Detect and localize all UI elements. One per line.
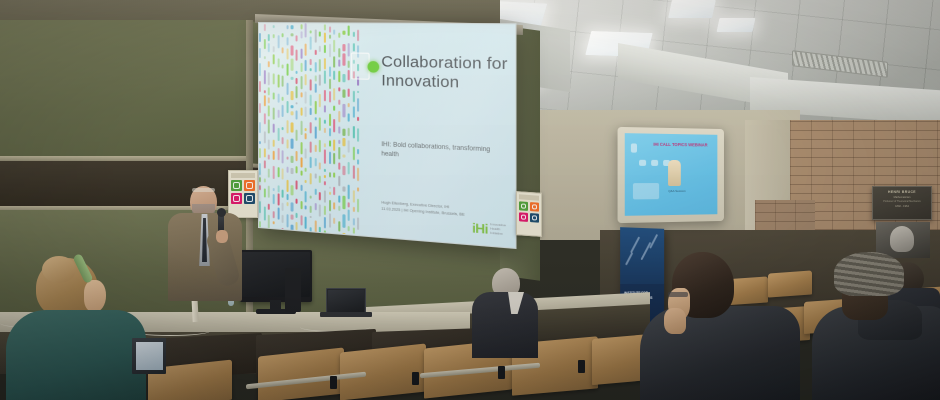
dna-bar [268,34,270,41]
dna-bar [263,132,265,144]
dna-bar [300,76,302,89]
dna-bar [324,150,326,164]
dna-bar [314,173,316,178]
dna-bar [357,218,359,231]
dna-bar [343,74,345,82]
dna-bar [348,202,350,207]
dna-bar [353,31,355,36]
dna-bar [273,140,275,147]
dna-bar [310,30,312,33]
dna-bar [286,202,288,207]
dna-bar [319,192,321,200]
dna-bar [291,105,293,108]
dna-bar [357,168,359,182]
dna-bar [296,50,298,61]
dna-bar [296,151,298,161]
dna-bar [291,33,293,36]
dna-bar [343,196,345,209]
secondary-screen-icon [639,160,646,166]
dna-bar [263,207,265,221]
sdg-tile [530,213,539,223]
dna-bar [296,212,298,218]
dna-bar [333,218,335,224]
dna-bar [305,60,307,71]
dna-bar [282,137,284,145]
audience-laptop-screen [136,342,163,370]
dna-bar [277,194,279,205]
dna-bar [291,202,293,211]
dna-bar [353,106,355,117]
dna-bar [273,54,275,64]
dna-bar [310,80,312,91]
dna-bar [259,48,261,57]
dna-bar [348,113,350,122]
dna-bar [338,100,340,105]
dna-bar [319,74,321,85]
dna-bar [305,74,307,85]
dna-bar [259,177,261,182]
dna-bar [329,151,331,164]
dna-bar [286,167,288,172]
dna-bar [268,43,270,52]
dna-bar [329,66,331,77]
dna-bar [273,151,275,160]
secondary-screen-icon [631,143,637,152]
dna-bar [277,128,279,142]
memorial-plaque: HENRI BRUCE Mathematician Professor of T… [872,186,932,220]
dna-bar [268,186,270,197]
dna-bar [305,43,307,55]
dna-bar [333,57,335,68]
dna-bar [314,30,316,43]
dna-bar [310,95,312,106]
dna-bar [310,216,312,219]
dna-bar [329,114,331,127]
dna-bar [263,178,265,182]
lecturer-laptop-lid [326,288,366,314]
dna-bar [282,203,284,211]
banner-streak [649,234,658,249]
banner-image [620,227,664,284]
dna-bar [353,43,355,52]
presenter [168,186,248,314]
dna-bar [348,185,350,199]
dna-bar [305,180,307,183]
dna-bar [273,74,275,85]
dna-bar [286,157,288,160]
dna-bar [338,196,340,203]
dna-bar [319,46,321,53]
dna-bar [259,33,261,43]
dna-bar [268,204,270,210]
slide-accent-dot [367,61,379,73]
dna-bar [338,139,340,143]
dna-bar [273,108,275,120]
dna-bar [324,206,326,216]
dna-bar [277,186,279,192]
dna-bar [338,206,340,211]
dna-bar [353,91,355,103]
secondary-screen-figure [668,160,681,186]
dna-bar [319,32,321,37]
dna-bar [310,156,312,168]
dna-bar [338,87,340,92]
seat-bracket [578,360,585,373]
desktop-monitor [240,250,312,302]
dna-bar [296,102,298,105]
dna-bar [263,160,265,169]
dna-bar [291,26,293,30]
dna-bar [273,46,275,52]
dna-bar [286,25,288,30]
dna-bar [319,117,321,131]
dna-bar [314,127,316,139]
dna-bar [286,214,288,227]
dna-bar [263,70,265,84]
dna-bar [263,25,265,32]
dna-bar [324,128,326,133]
dna-bar [310,195,312,198]
audience-glasses [668,292,688,297]
dna-bar [305,133,307,139]
dna-bar [291,168,293,174]
dna-bar [296,86,298,98]
dna-bar [305,217,307,229]
dna-bar [277,148,279,161]
dna-bar [348,162,350,175]
plaque-line2: Mathematician [877,196,927,199]
dna-bar [300,157,302,167]
dna-bar [305,128,307,132]
dna-bar [319,94,321,107]
desk-speaker [285,268,301,312]
dna-bar [353,126,355,138]
dna-bar [296,111,298,120]
dna-bar [286,63,288,75]
dna-bar [353,190,355,203]
dna-bar [277,75,279,88]
seat-bracket [498,366,505,379]
dna-bar [300,92,302,98]
dna-bar [314,158,316,166]
dna-bar [343,104,345,117]
dna-bar [324,120,326,124]
dna-bar [263,90,265,94]
dna-bar [329,79,331,89]
dna-bar [343,138,345,146]
dna-bar [277,35,279,48]
dna-bar [300,63,302,73]
dna-bar [314,220,316,232]
dna-bar [305,24,307,38]
dna-bar [286,180,288,192]
seat-bracket [412,372,419,385]
dna-bar [314,62,316,73]
sdg-tile-grid [519,201,539,222]
secondary-screen-icon [651,160,658,166]
dna-bar [353,228,355,234]
dna-bar [305,167,307,172]
dna-bar [353,165,355,179]
ihi-logo: iHi Innovative Health Initiative [472,221,506,239]
audience-torso [6,310,146,400]
dna-bar [329,128,331,137]
dna-bar [268,154,270,159]
sdg-tile [530,202,539,212]
dna-bar [291,156,293,162]
dna-bar [343,233,345,235]
dna-bar [282,33,284,37]
sdg-tile [519,201,528,211]
dna-bar [259,103,261,114]
dna-bar [357,188,359,192]
dna-bar [314,101,316,114]
dna-bar [329,44,331,57]
dna-bar [263,188,265,197]
dna-bar [291,46,293,56]
dna-bar [291,59,293,71]
dna-bar [300,142,302,155]
dna-bar [305,206,307,210]
dna-bar [333,30,335,35]
banner-streak [625,252,633,265]
dna-bar [324,217,326,228]
projection-screen-main: Collaboration for Innovation IHI: Bold c… [258,22,516,249]
dna-bar [319,204,321,217]
dna-bar [310,108,312,115]
dna-bar [268,139,270,150]
dna-bar [338,48,340,57]
dna-bar [357,30,359,41]
dna-bar [296,166,298,173]
dna-bar [333,70,335,80]
dna-bar [348,89,350,97]
dna-bar [282,150,284,164]
knit-beanie [834,252,904,296]
dna-bar [286,49,288,59]
dna-bar [348,25,350,36]
dna-bar [291,90,293,100]
dna-bar [286,101,288,113]
dna-bar [296,130,298,141]
dna-bar [263,56,265,59]
dna-bar [296,222,298,230]
dna-bar [273,123,275,133]
ihi-logo-subtext: Innovative Health Initiative [490,223,506,237]
dna-bar [273,166,275,179]
presentation-slide: Collaboration for Innovation IHI: Bold c… [259,23,515,248]
dna-bar [338,221,340,231]
dna-bar [300,24,302,29]
sdg-icon [521,203,526,209]
dna-bar [296,199,298,204]
dna-bar [314,203,316,210]
dna-bar [319,140,321,153]
dna-bar [338,127,340,134]
dna-bar [343,54,345,66]
sdg-icon [532,215,537,221]
ceiling-light-panel [668,0,716,18]
dna-bar [310,142,312,153]
dna-bar [259,185,261,190]
dna-bar [273,34,275,38]
dna-bar [310,68,312,71]
dna-bar [314,84,316,93]
seat [258,347,344,400]
dna-bar [273,211,275,219]
dna-bar [305,149,307,159]
dna-bar [263,113,265,124]
dna-bar [296,35,298,41]
dna-bar [324,143,326,147]
dna-bar [277,94,279,104]
dna-bar [329,192,331,195]
dna-bar [338,71,340,82]
slide-subtitle: IHI: Bold collaborations, transforming h… [381,141,504,166]
dna-bar [291,123,293,133]
dna-bar [300,107,302,116]
dna-bar [357,149,359,154]
audience-hand [664,308,686,334]
dna-bar [343,89,345,97]
dna-bar [324,90,326,101]
dna-bar [333,106,335,111]
dna-bar [324,190,326,202]
dna-bar [324,71,326,84]
lecturer-laptop-screen [328,290,364,312]
dna-bar [268,169,270,178]
dna-bar [343,214,345,228]
dna-bar [357,199,359,213]
plaque-dates: 1892 - 1964 [877,205,927,208]
dna-bar [324,175,326,179]
dna-bar [268,61,270,67]
dna-bar [259,122,261,133]
dna-bar [268,105,270,117]
dna-bar [338,33,340,37]
dna-bar [300,121,302,135]
dna-bar [291,77,293,80]
audience-face [84,280,106,312]
dna-bar [300,184,302,191]
dna-bar [319,163,321,170]
dna-bar [348,226,350,231]
dna-bar [263,39,265,49]
dna-bar [277,59,279,68]
slide-footer: Hugh Ellenberg, Executive Director, IHI … [381,199,493,220]
dna-bar [353,218,355,226]
dna-bar [268,87,270,95]
projection-screen-secondary: IHI CALL TOPICS WEBINAR Q&A Session [625,133,718,216]
dna-bar [310,122,312,133]
sdg-icon [532,204,537,210]
audience-hair-bun [42,256,76,283]
dna-bar [348,60,350,68]
dna-bar [348,209,350,221]
dna-bar [300,201,302,210]
dna-bar [282,47,284,54]
dna-bar [259,63,261,76]
dna-bar [282,127,284,130]
dna-bar [329,140,331,146]
seat [768,270,812,297]
dna-bar [329,91,331,103]
dna-bar [263,149,265,158]
dna-bar [305,192,307,203]
dna-bar [259,148,261,158]
dna-bar [310,59,312,65]
dna-bar [263,95,265,106]
dna-bar [286,120,288,133]
secondary-screen-caption: Q&A Session [668,189,685,193]
dna-bar [268,215,270,229]
dna-bar [338,111,340,122]
dna-bar [273,221,275,224]
sdg-poster-right [516,191,542,237]
lecturer-laptop-base [320,312,372,317]
dna-bar [324,169,326,172]
dna-bar [300,49,302,58]
dna-bar [324,59,326,69]
dna-bar [305,106,307,116]
sdg-poster-header [231,173,255,178]
dna-bar [282,96,284,100]
dna-bar [357,90,359,93]
dna-bar [286,139,288,148]
dna-bar [329,172,331,178]
dna-bar [324,45,326,53]
dna-bar [286,82,288,95]
dna-bar [338,147,340,159]
dna-bar [357,128,359,142]
dna-bar [343,128,345,136]
dna-bar [259,163,261,175]
ceiling-light-panel [717,18,756,32]
dna-bar [333,202,335,210]
dna-bar [343,166,345,175]
dna-bar [343,186,345,191]
dna-bar [357,159,359,165]
dna-bar [277,167,279,178]
dna-bar [286,194,288,200]
dna-bar [319,176,321,183]
dna-bar [348,128,350,136]
plaque-line3: Professor of Theoretical Mechanics [877,200,927,203]
projection-screen-secondary-frame: IHI CALL TOPICS WEBINAR Q&A Session [618,127,724,223]
dna-bar [324,32,326,43]
dna-bar [357,117,359,121]
dna-bar [357,98,359,112]
dna-bar [305,91,307,104]
dna-bar [314,50,316,55]
dna-bar [282,104,284,117]
dna-bar [348,43,350,56]
dna-bar [348,141,350,153]
dna-bar [259,141,261,145]
dna-bar [310,37,312,50]
dna-bar [333,172,335,177]
dna-bar [296,180,298,189]
dna-bar [329,186,331,189]
dna-bar [314,145,316,152]
lecture-hall-photo: Collaboration for Innovation IHI: Bold c… [0,0,940,400]
plaque-name: HENRI BRUCE [877,190,927,194]
dna-bar [333,119,335,132]
secondary-screen-chart [632,183,658,199]
dna-bar [300,31,302,38]
dna-bar [291,112,293,116]
dna-bar [310,173,312,185]
